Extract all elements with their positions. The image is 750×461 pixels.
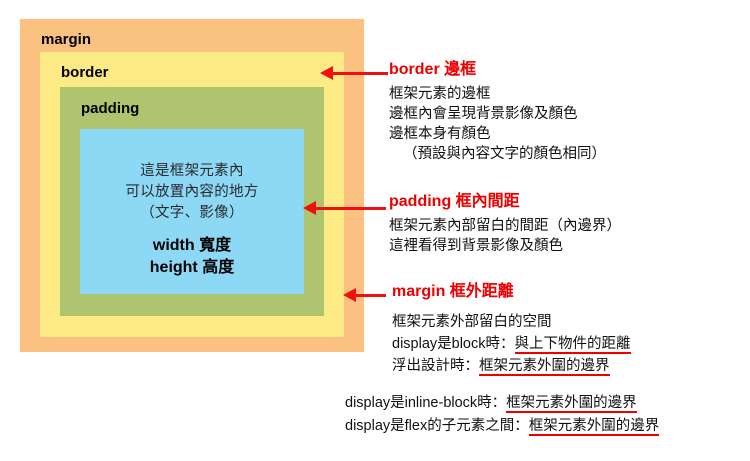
display-note-line-2-prefix: display是flex的子元素之間： xyxy=(345,418,529,434)
margin-annotation: margin 框外距離 框架元素外部留白的空間 display是block時：與… xyxy=(392,282,631,376)
border-annotation-line-1: 框架元素的邊框 xyxy=(389,84,606,104)
margin-annotation-line-3-emphasis: 框架元素外圍的邊界 xyxy=(479,358,610,376)
border-annotation: border 邊框 框架元素的邊框 邊框內會呈現背景影像及顏色 邊框本身有顏色 … xyxy=(389,60,606,164)
display-note-line-2-emphasis: 框架元素外圍的邊界 xyxy=(529,418,660,436)
content-line-3: （文字、影像） xyxy=(80,203,304,224)
border-annotation-line-4: （預設與內容文字的顏色相同） xyxy=(389,144,606,164)
content-height-label: height 高度 xyxy=(80,257,304,279)
margin-annotation-line-1: 框架元素外部留白的空間 xyxy=(392,312,631,332)
border-annotation-title: border 邊框 xyxy=(389,60,606,80)
margin-annotation-line-2-prefix: display是block時： xyxy=(392,336,515,352)
padding-annotation: padding 框內間距 框架元素內部留白的間距（內邊界） 這裡看得到背景影像及… xyxy=(389,192,621,256)
content-box-layer: 這是框架元素內 可以放置內容的地方 （文字、影像） width 寬度 heigh… xyxy=(80,129,304,294)
margin-annotation-title: margin 框外距離 xyxy=(392,282,631,302)
padding-annotation-title: padding 框內間距 xyxy=(389,192,621,212)
margin-annotation-line-2: display是block時：與上下物件的距離 xyxy=(392,334,631,354)
border-box-label: border xyxy=(61,65,109,80)
padding-box-label: padding xyxy=(81,101,139,116)
margin-annotation-line-3: 浮出設計時：框架元素外圍的邊界 xyxy=(392,356,631,376)
display-notes-annotation: display是inline-block時：框架元素外圍的邊界 display是… xyxy=(345,392,659,438)
border-annotation-line-2: 邊框內會呈現背景影像及顏色 xyxy=(389,104,606,124)
padding-annotation-line-1: 框架元素內部留白的間距（內邊界） xyxy=(389,216,621,236)
content-line-1: 這是框架元素內 xyxy=(80,161,304,182)
margin-annotation-line-2-emphasis: 與上下物件的距離 xyxy=(515,336,631,354)
content-box-text: 這是框架元素內 可以放置內容的地方 （文字、影像） width 寬度 heigh… xyxy=(80,161,304,279)
margin-annotation-line-3-prefix: 浮出設計時： xyxy=(392,358,479,374)
margin-box-label: margin xyxy=(41,32,91,47)
border-annotation-line-3: 邊框本身有顏色 xyxy=(389,124,606,144)
content-width-label: width 寬度 xyxy=(80,235,304,257)
padding-annotation-line-2: 這裡看得到背景影像及顏色 xyxy=(389,236,621,256)
box-model-diagram: margin border padding 這是框架元素內 可以放置內容的地方 … xyxy=(20,19,364,352)
display-note-line-1-emphasis: 框架元素外圍的邊界 xyxy=(506,395,637,413)
display-note-line-1: display是inline-block時：框架元素外圍的邊界 xyxy=(345,392,659,415)
display-note-line-2: display是flex的子元素之間：框架元素外圍的邊界 xyxy=(345,415,659,438)
display-note-line-1-prefix: display是inline-block時： xyxy=(345,395,506,411)
content-line-2: 可以放置內容的地方 xyxy=(80,182,304,203)
content-dimensions: width 寬度 height 高度 xyxy=(80,235,304,279)
